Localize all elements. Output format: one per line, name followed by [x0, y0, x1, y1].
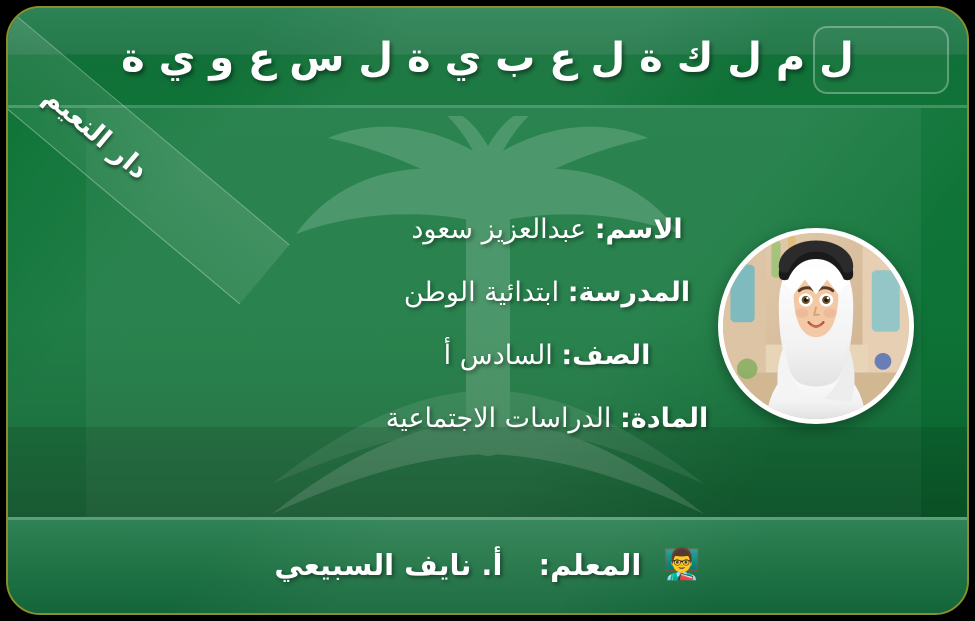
info-label-name: الاسم:: [595, 214, 683, 245]
teacher-label: المعلم:: [539, 548, 642, 582]
header-divider: [8, 105, 967, 108]
student-id-card: ل م ل ك ة ل ع ب ي ة ل س ع و ي ة دار النع…: [6, 6, 969, 615]
info-label-grade: الصف:: [561, 340, 650, 371]
teacher-name: أ. نايف السبيعي: [274, 548, 502, 582]
page-title: ل م ل ك ة ل ع ب ي ة ل س ع و ي ة: [121, 35, 854, 81]
avatar: [718, 228, 914, 424]
card-footer: 👨‍🏫 المعلم: أ. نايف السبيعي: [8, 517, 967, 613]
info-value-school: ابتدائية الوطن: [404, 277, 559, 308]
info-value-name: عبدالعزيز سعود: [411, 214, 586, 245]
info-value-subject: الدراسات الاجتماعية: [386, 403, 612, 434]
teacher-line: المعلم: أ. نايف السبيعي: [274, 548, 641, 582]
info-value-grade: السادس أ: [444, 340, 553, 371]
info-label-subject: المادة:: [620, 403, 708, 434]
info-row-subject: المادة: الدراسات الاجتماعية: [287, 387, 807, 450]
footer-divider: [8, 517, 967, 520]
logo-placeholder[interactable]: [813, 26, 949, 94]
info-row-name: الاسم: عبدالعزيز سعود: [287, 198, 807, 261]
teacher-icon: 👨‍🏫: [663, 550, 700, 580]
info-label-school: المدرسة:: [568, 277, 690, 308]
